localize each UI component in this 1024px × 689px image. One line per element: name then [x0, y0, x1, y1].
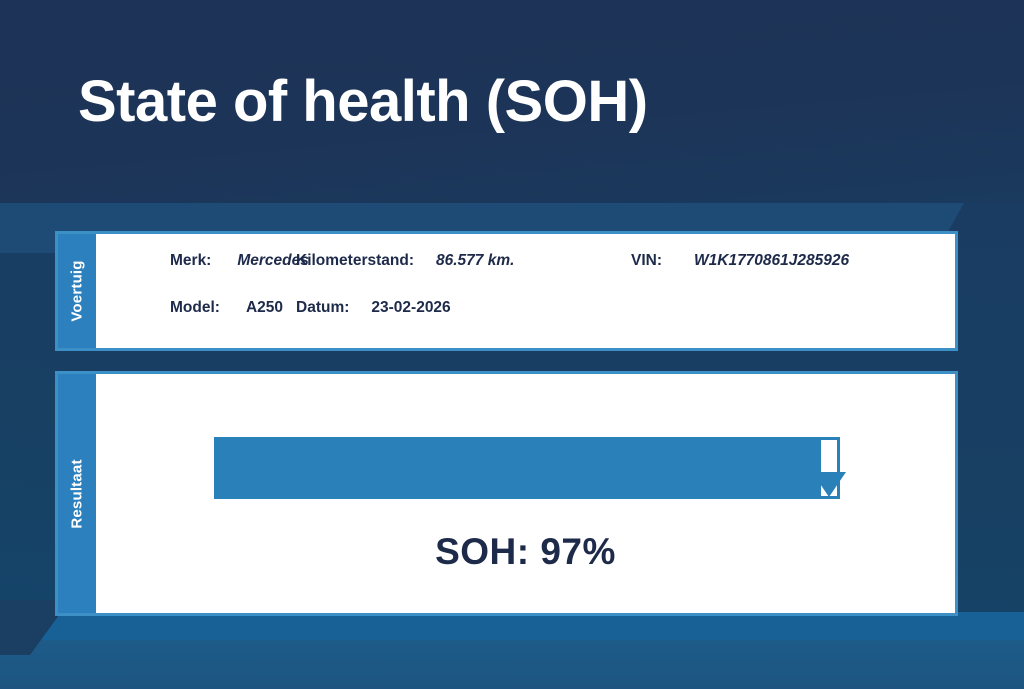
result-card: Resultaat SOH: 97% [55, 371, 958, 616]
field-model: Model: A250 [96, 299, 296, 317]
soh-gauge-marker-triangle-icon [812, 472, 846, 497]
field-merk: Merk: Mercedes [96, 252, 296, 270]
field-datum-value: 23-02-2026 [371, 299, 450, 317]
vehicle-card-body: Merk: Mercedes Kilometerstand: 86.577 km… [96, 234, 955, 348]
field-kilometerstand: Kilometerstand: 86.577 km. [296, 252, 631, 270]
soh-gauge-fill [214, 437, 840, 499]
vehicle-card-tab-label: Voertuig [69, 260, 86, 321]
field-model-value: A250 [246, 299, 283, 317]
field-model-label: Model: [170, 299, 220, 317]
vehicle-field-row: Merk: Mercedes Kilometerstand: 86.577 km… [96, 252, 955, 299]
slide-canvas: State of health (SOH) Voertuig Merk: Mer… [0, 0, 1024, 689]
field-datum: Datum: 23-02-2026 [296, 299, 631, 317]
vehicle-field-grid: Merk: Mercedes Kilometerstand: 86.577 km… [96, 234, 955, 348]
field-vin-value: W1K1770861J285926 [694, 252, 849, 270]
vehicle-card-tab: Voertuig [58, 234, 96, 348]
soh-value-label: SOH: 97% [96, 531, 955, 573]
page-title: State of health (SOH) [78, 72, 648, 133]
result-card-tab-label: Resultaat [69, 459, 86, 528]
vehicle-info-card: Voertuig Merk: Mercedes Kilometerstand: … [55, 231, 958, 351]
result-card-tab: Resultaat [58, 374, 96, 613]
soh-gauge [96, 374, 955, 534]
result-card-body: SOH: 97% [96, 374, 955, 613]
field-vin-label: VIN: [631, 252, 662, 270]
field-kilometerstand-value: 86.577 km. [436, 252, 514, 270]
soh-gauge-track [214, 437, 859, 499]
field-vin: VIN: W1K1770861J285926 [631, 252, 921, 270]
field-datum-label: Datum: [296, 299, 349, 317]
field-kilometerstand-label: Kilometerstand: [296, 252, 414, 270]
vehicle-field-row: Model: A250 Datum: 23-02-2026 [96, 299, 955, 346]
field-merk-label: Merk: [170, 252, 211, 270]
background-footer-band [0, 640, 1024, 689]
